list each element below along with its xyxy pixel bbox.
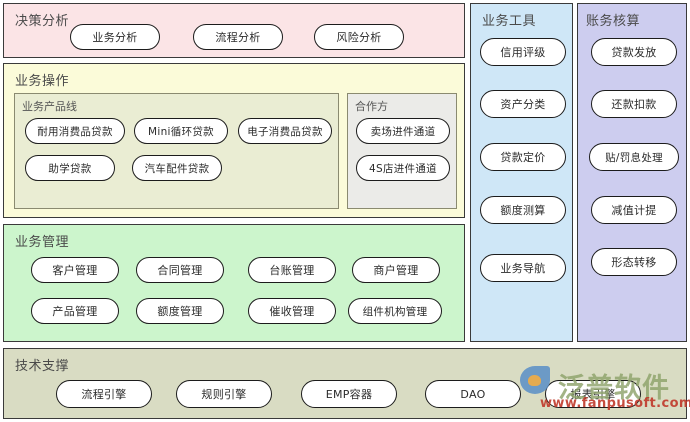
pill-credit-limit-calculation[interactable]: 额度测算 <box>480 196 566 224</box>
section-decision-analysis: 决策分析 业务分析 流程分析 风险分析 <box>3 3 465 58</box>
pill-product-management[interactable]: 产品管理 <box>31 298 119 324</box>
subsection-product-line: 业务产品线 耐用消费品贷款 Mini循环贷款 电子消费品贷款 助学贷款 汽车配件… <box>14 93 339 209</box>
pill-dao[interactable]: DAO <box>425 380 521 408</box>
section-business-operation-title: 业务操作 <box>15 75 69 88</box>
pill-credit-rating[interactable]: 信用评级 <box>480 38 566 66</box>
pill-credit-limit-management[interactable]: 额度管理 <box>136 298 224 324</box>
section-business-operation: 业务操作 业务产品线 耐用消费品贷款 Mini循环贷款 电子消费品贷款 助学贷款… <box>3 63 465 218</box>
section-accounting: 账务核算 贷款发放 还款扣款 贴/罚息处理 减值计提 形态转移 <box>577 3 687 342</box>
pill-process-engine[interactable]: 流程引擎 <box>56 380 152 408</box>
pill-asset-classification[interactable]: 资产分类 <box>480 90 566 118</box>
pill-risk-analysis[interactable]: 风险分析 <box>314 24 404 50</box>
section-business-management-title: 业务管理 <box>15 236 69 249</box>
pill-loan-pricing[interactable]: 贷款定价 <box>480 143 566 171</box>
section-technical-support-title: 技术支撑 <box>15 360 69 373</box>
pill-ledger-management[interactable]: 台账管理 <box>248 257 336 283</box>
pill-emp-container[interactable]: EMP容器 <box>301 380 397 408</box>
pill-electronic-consumer-loan[interactable]: 电子消费品贷款 <box>238 118 332 144</box>
pill-auto-parts-loan[interactable]: 汽车配件贷款 <box>132 155 222 181</box>
pill-repayment-deduction[interactable]: 还款扣款 <box>591 90 677 118</box>
pill-business-navigation[interactable]: 业务导航 <box>480 254 566 282</box>
pill-merchant-management[interactable]: 商户管理 <box>352 257 440 283</box>
pill-store-channel[interactable]: 卖场进件通道 <box>356 118 450 144</box>
pill-rule-engine[interactable]: 规则引擎 <box>176 380 272 408</box>
section-decision-analysis-title: 决策分析 <box>15 15 69 28</box>
subsection-product-line-title: 业务产品线 <box>22 101 77 112</box>
pill-collection-management[interactable]: 催收管理 <box>248 298 336 324</box>
pill-report-engine[interactable]: 报表引擎 <box>545 380 641 408</box>
pill-status-transfer[interactable]: 形态转移 <box>591 248 677 276</box>
pill-durable-consumer-loan[interactable]: 耐用消费品贷款 <box>25 118 125 144</box>
section-business-tools: 业务工具 信用评级 资产分类 贷款定价 额度测算 业务导航 <box>470 3 573 342</box>
pill-component-org-management[interactable]: 组件机构管理 <box>348 298 442 324</box>
pill-contract-management[interactable]: 合同管理 <box>136 257 224 283</box>
pill-student-loan[interactable]: 助学贷款 <box>25 155 115 181</box>
pill-impairment-provision[interactable]: 减值计提 <box>591 196 677 224</box>
section-business-tools-title: 业务工具 <box>482 15 536 28</box>
pill-4s-shop-channel[interactable]: 4S店进件通道 <box>356 155 450 181</box>
pill-mini-revolving-loan[interactable]: Mini循环贷款 <box>134 118 228 144</box>
pill-loan-disbursement[interactable]: 贷款发放 <box>591 38 677 66</box>
pill-business-analysis[interactable]: 业务分析 <box>70 24 160 50</box>
subsection-partner-title: 合作方 <box>355 101 388 112</box>
architecture-diagram: 决策分析 业务分析 流程分析 风险分析 业务操作 业务产品线 耐用消费品贷款 M… <box>0 0 690 422</box>
pill-process-analysis[interactable]: 流程分析 <box>193 24 283 50</box>
pill-interest-subsidy-penalty[interactable]: 贴/罚息处理 <box>589 143 679 171</box>
pill-customer-management[interactable]: 客户管理 <box>31 257 119 283</box>
section-technical-support: 技术支撑 流程引擎 规则引擎 EMP容器 DAO 报表引擎 <box>3 348 687 419</box>
subsection-partner: 合作方 卖场进件通道 4S店进件通道 <box>347 93 457 209</box>
section-business-management: 业务管理 客户管理 合同管理 台账管理 商户管理 产品管理 额度管理 催收管理 … <box>3 224 465 342</box>
section-accounting-title: 账务核算 <box>586 15 640 28</box>
